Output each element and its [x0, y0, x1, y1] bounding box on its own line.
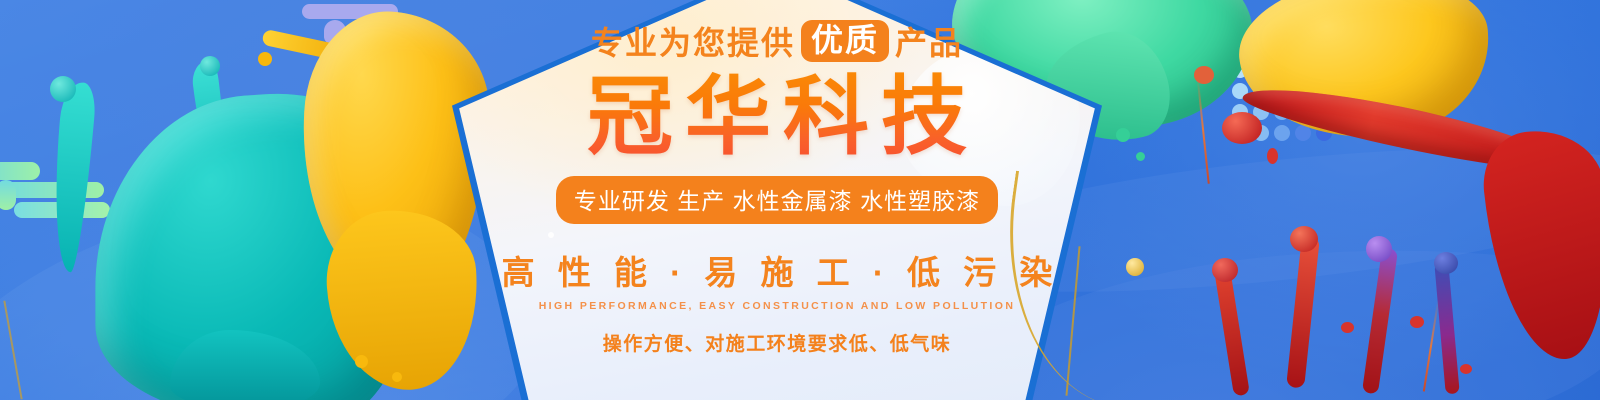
red-splash-strand — [1286, 235, 1320, 388]
teal-splash — [190, 59, 232, 191]
features-line-english: HIGH PERFORMANCE, EASY CONSTRUCTION AND … — [539, 300, 1016, 312]
red-splash — [1478, 124, 1600, 365]
red-splash-strand — [1214, 268, 1250, 397]
gold-paint-thread — [3, 301, 22, 400]
gold-droplet — [1126, 258, 1144, 276]
red-splash-head — [1434, 252, 1458, 274]
yellow-splash-droplet — [355, 355, 368, 368]
red-splash-droplet — [1341, 322, 1354, 333]
yellow-splash-droplet — [258, 52, 272, 66]
green-splash-droplet — [1116, 128, 1130, 142]
yellow-splash-right — [1232, 0, 1497, 151]
tagline: 专业为您提供 优质 产品 — [591, 18, 963, 64]
teal-splash-droplet — [50, 76, 76, 102]
red-splash-droplet — [1267, 148, 1278, 164]
red-splash-head — [1222, 112, 1262, 144]
yellow-splash-right — [1255, 21, 1356, 106]
teal-splash — [170, 330, 320, 400]
promo-banner: 专业为您提供 优质 产品 冠华科技 专业研发 生产 水性金属漆 水性塑胶漆 高 … — [0, 0, 1600, 400]
red-splash-strand — [1362, 248, 1398, 395]
company-title: 冠华科技 — [575, 68, 979, 168]
dot-grid-pattern — [1232, 62, 1332, 141]
features-line: 高 性 能 · 易 施 工 · 低 污 染 — [495, 246, 1060, 294]
cloud-left-icon — [0, 162, 106, 222]
orange-splash-droplet — [1194, 66, 1214, 84]
banner-content: 专业为您提供 优质 产品 冠华科技 专业研发 生产 水性金属漆 水性塑胶漆 高 … — [452, 0, 1102, 400]
teal-splash — [95, 83, 424, 400]
cloud-top-left-icon — [272, 4, 402, 46]
teal-splash — [47, 81, 97, 273]
tagline-prefix: 专业为您提供 — [591, 18, 795, 64]
tagline-highlight-badge: 优质 — [801, 20, 889, 63]
red-splash-droplet — [1460, 364, 1472, 374]
bottom-benefits-line: 操作方便、对施工环境要求低、低气味 — [603, 329, 952, 356]
red-splash-head — [1212, 258, 1238, 282]
paint-thread — [1196, 74, 1209, 184]
yellow-splash-droplet — [1376, 108, 1388, 120]
paint-thread — [1423, 300, 1439, 391]
yellow-splash-droplet — [392, 372, 402, 382]
teal-splash-droplet — [200, 56, 220, 76]
green-splash-droplet — [1136, 152, 1145, 161]
tagline-suffix: 产品 — [895, 18, 963, 64]
red-splash-droplet — [1410, 316, 1424, 328]
yellow-splash-left — [261, 29, 352, 63]
red-splash-head — [1366, 236, 1392, 262]
red-splash — [1239, 74, 1570, 182]
red-splash-strand — [1434, 262, 1459, 395]
services-pill: 专业研发 生产 水性金属漆 水性塑胶漆 — [556, 176, 998, 224]
red-splash-head — [1290, 226, 1318, 252]
